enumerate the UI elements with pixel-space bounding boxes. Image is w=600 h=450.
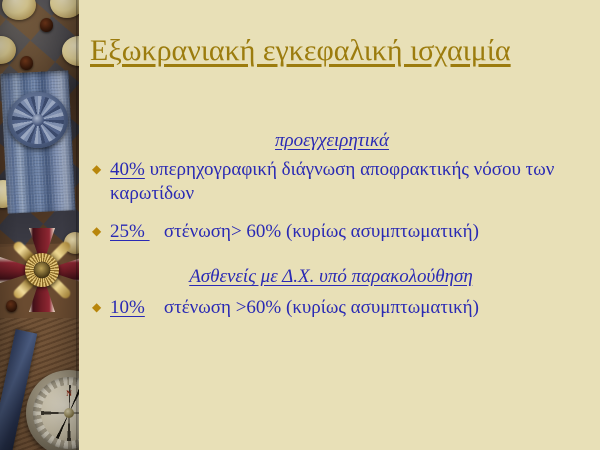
dark-stud-icon bbox=[20, 56, 33, 70]
list-item: ◆ 25% στένωση> 60% (κυρίως ασυμπτωματική… bbox=[92, 220, 592, 244]
slide-title: Εξωκρανιακή εγκεφαλική ισχαιμία bbox=[90, 33, 590, 69]
list-item-text: 10% στένωση >60% (κυρίως ασυμπτωματική) bbox=[110, 296, 592, 320]
list-item: ◆ 10% στένωση >60% (κυρίως ασυμπτωματική… bbox=[92, 296, 592, 320]
list-item: ◆ 40% υπερηχογραφική διάγνωση αποφρακτικ… bbox=[92, 158, 592, 207]
diamond-bullet-icon: ◆ bbox=[92, 301, 110, 313]
maltese-cross-medal bbox=[0, 214, 79, 326]
section-heading-text: προεγχειρητικά bbox=[275, 130, 389, 151]
list-item-description: στένωση> 60% (κυρίως ασυμπτωματική) bbox=[164, 221, 479, 242]
cross-medallion-core bbox=[34, 262, 50, 278]
list-item-description: στένωση >60% (κυρίως ασυμπτωματική) bbox=[164, 297, 479, 318]
list-item-description: υπερηχογραφική διάγνωση αποφρακτικής νόσ… bbox=[110, 159, 554, 204]
cross-medallion bbox=[25, 253, 59, 287]
decorative-photo-strip: N bbox=[0, 0, 79, 450]
compass-pivot bbox=[64, 408, 74, 418]
dark-stud-icon bbox=[40, 18, 53, 32]
percentage-value: 40% bbox=[110, 159, 145, 180]
spacer bbox=[145, 297, 164, 318]
section-heading-text: Ασθενείς με Δ.Χ. υπό παρακολούθηση bbox=[189, 266, 473, 287]
spacer bbox=[150, 221, 164, 242]
section-heading-followup: Ασθενείς με Δ.Χ. υπό παρακολούθηση bbox=[70, 266, 592, 288]
slide-body: προεγχειρητικά ◆ 40% υπερηχογραφική διάγ… bbox=[92, 130, 592, 324]
section-heading-preoperative: προεγχειρητικά bbox=[72, 130, 592, 152]
list-item-text: 40% υπερηχογραφική διάγνωση αποφρακτικής… bbox=[110, 158, 592, 207]
diamond-bullet-icon: ◆ bbox=[92, 163, 110, 175]
diamond-bullet-icon: ◆ bbox=[92, 225, 110, 237]
list-item-text: 25% στένωση> 60% (κυρίως ασυμπτωματική) bbox=[110, 220, 592, 244]
percentage-value: 10% bbox=[110, 297, 145, 318]
rosette-hub bbox=[32, 114, 44, 126]
percentage-value: 25% bbox=[110, 221, 150, 242]
compass-north-label: N bbox=[62, 389, 76, 398]
photo-strip-edge bbox=[76, 0, 79, 450]
slide-canvas: N Εξωκρανιακή εγκεφαλική ισχαιμία προεγχ… bbox=[0, 0, 600, 450]
